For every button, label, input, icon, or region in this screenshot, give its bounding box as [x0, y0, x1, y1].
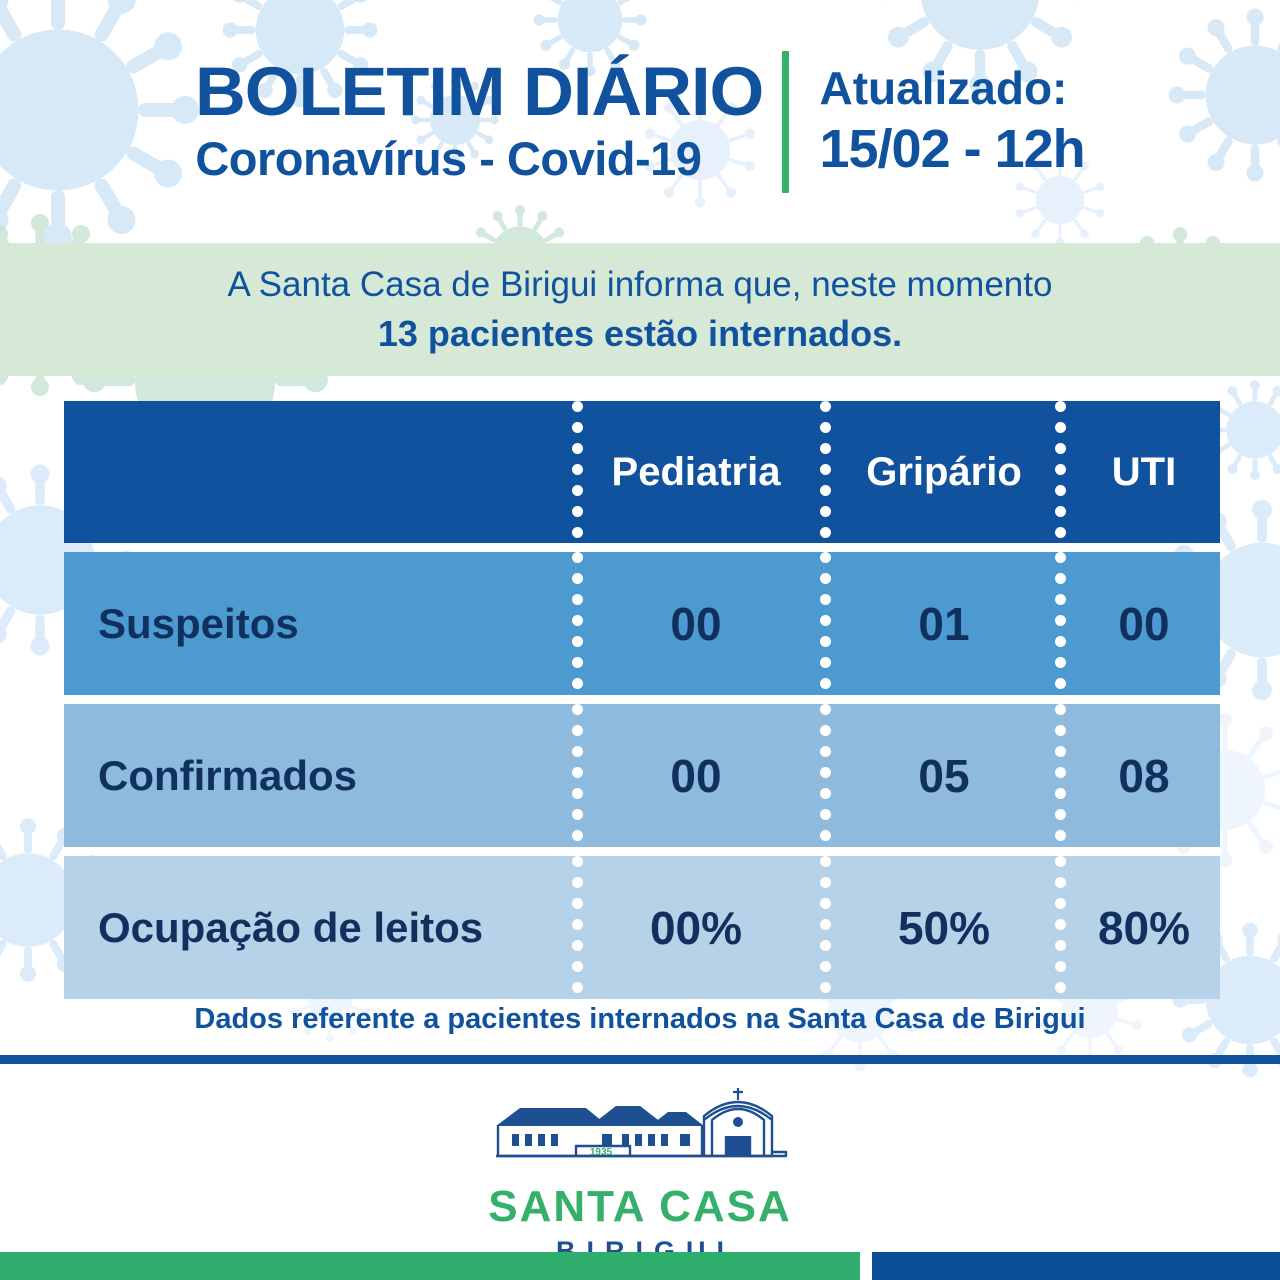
footnote: Dados referente a pacientes internados n…	[0, 1003, 1280, 1036]
cell-gripario: 50%	[820, 856, 1068, 999]
cell-value: 00	[670, 597, 721, 651]
cell-uti: 08	[1068, 704, 1220, 847]
notice-line-2: 13 pacientes estão internados.	[378, 311, 902, 356]
notice-band: A Santa Casa de Birigui informa que, nes…	[0, 243, 1280, 376]
cell-value: 00%	[650, 901, 742, 955]
cell-value: 05	[918, 749, 969, 803]
table-header-corner	[64, 401, 572, 543]
cell-uti: 80%	[1068, 856, 1220, 999]
header-title-block: BOLETIM DIÁRIO Coronavírus - Covid-19	[195, 57, 752, 186]
logo: 1935 SANTA CASA BIRIGUI	[0, 1086, 1280, 1265]
row-label: Ocupação de leitos	[98, 904, 483, 952]
footer-bar-blue	[872, 1252, 1280, 1280]
row-label: Suspeitos	[98, 600, 299, 648]
cell-pediatria: 00%	[572, 856, 820, 999]
row-label-cell: Ocupação de leitos	[64, 856, 572, 999]
logo-year: 1935	[590, 1147, 613, 1158]
occupancy-table: Pediatria Gripário UTI Suspeitos 00 01	[64, 401, 1220, 999]
logo-name: SANTA CASA	[488, 1185, 792, 1229]
header: BOLETIM DIÁRIO Coronavírus - Covid-19 At…	[0, 0, 1280, 243]
header-divider	[782, 51, 789, 193]
table-row: Ocupação de leitos 00% 50% 80%	[64, 856, 1220, 999]
cell-value: 80%	[1098, 901, 1190, 955]
cell-value: 00	[1118, 597, 1169, 651]
footer-bar-green	[0, 1252, 860, 1280]
cell-pediatria: 00	[572, 704, 820, 847]
cell-value: 00	[670, 749, 721, 803]
boletim-infographic: BOLETIM DIÁRIO Coronavírus - Covid-19 At…	[0, 0, 1280, 1280]
column-header-label: Gripário	[866, 450, 1022, 495]
divider-rule	[0, 1055, 1280, 1064]
column-header-label: UTI	[1112, 450, 1176, 495]
hospital-building-icon: 1935	[490, 1086, 790, 1181]
notice-line-1: A Santa Casa de Birigui informa que, nes…	[228, 263, 1053, 307]
cell-gripario: 01	[820, 552, 1068, 695]
row-label: Confirmados	[98, 752, 357, 800]
table-row: Suspeitos 00 01 00	[64, 552, 1220, 695]
cell-value: 50%	[898, 901, 990, 955]
cell-value: 08	[1118, 749, 1169, 803]
page-title: BOLETIM DIÁRIO	[195, 57, 763, 126]
table-row: Confirmados 00 05 08	[64, 704, 1220, 847]
row-label-cell: Suspeitos	[64, 552, 572, 695]
updated-label: Atualizado:	[819, 63, 1084, 114]
column-header-label: Pediatria	[612, 450, 781, 495]
page-subtitle: Coronavírus - Covid-19	[195, 132, 752, 186]
column-header-pediatria: Pediatria	[572, 401, 820, 543]
column-header-gripario: Gripário	[820, 401, 1068, 543]
updated-value: 15/02 - 12h	[819, 118, 1084, 180]
cell-gripario: 05	[820, 704, 1068, 847]
row-label-cell: Confirmados	[64, 704, 572, 847]
cell-uti: 00	[1068, 552, 1220, 695]
cell-pediatria: 00	[572, 552, 820, 695]
table-header-row: Pediatria Gripário UTI	[64, 401, 1220, 543]
cell-value: 01	[918, 597, 969, 651]
updated-block: Atualizado: 15/02 - 12h	[819, 63, 1084, 180]
column-header-uti: UTI	[1068, 401, 1220, 543]
